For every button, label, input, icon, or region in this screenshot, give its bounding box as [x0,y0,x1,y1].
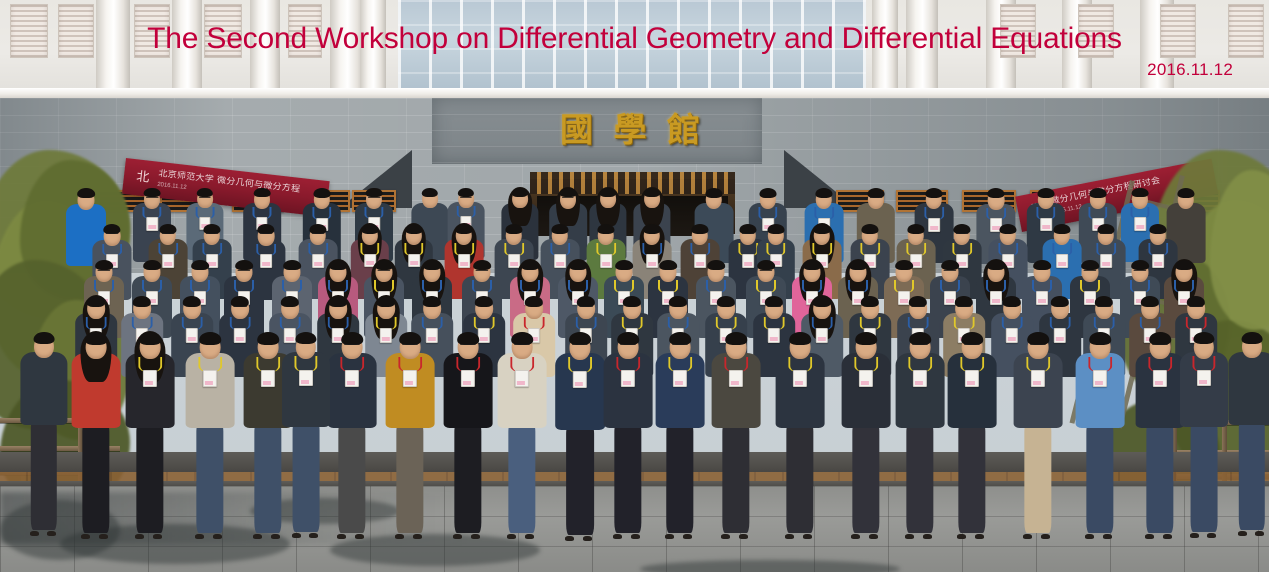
person-glasses [1189,306,1203,310]
person [386,330,435,539]
person-hair-cap [600,188,616,197]
person-glasses [368,197,381,201]
person-hair-cap [1051,296,1069,306]
person-shoe [525,534,534,539]
person-hair-cap [813,224,830,234]
person-hair-cap [644,188,660,197]
person-hair-cap [815,188,832,198]
person [948,330,997,539]
person-shoe [721,534,730,539]
person-badge [673,370,687,387]
person-legs [666,425,693,533]
person-hair-cap [895,260,913,270]
person-hair-cap [329,260,347,270]
person-glasses [259,233,272,237]
person-hair-cap [423,260,441,270]
person-hair-cap [551,224,568,234]
person-shoe [1023,534,1032,539]
person [656,330,705,539]
person-shoe [1085,534,1094,539]
person-glasses [1100,233,1113,237]
person-hair-cap [1090,188,1107,198]
person-hair-cap [1242,332,1263,344]
person-shoe [785,534,794,539]
person [842,330,891,539]
person-hair-cap [1149,224,1166,234]
person [1180,330,1228,538]
person-hair-cap [1033,260,1051,270]
person-hair-cap [909,296,927,306]
person [498,330,547,539]
person-hair-cap [987,260,1005,270]
person-glasses [1030,344,1046,348]
person-shoe [337,534,346,539]
person-badge [1031,370,1045,387]
person-shoe [851,534,860,539]
person-legs [1191,424,1218,532]
person-glasses [206,233,219,237]
person-badge [143,370,157,387]
person-hair-cap [231,296,249,306]
person-badge [203,370,217,387]
person-shoe [153,534,162,539]
person-hair-cap [295,332,316,344]
person-hair-cap [87,296,105,306]
person-hair-cap [455,224,472,234]
person-shoe [99,534,108,539]
person-hair-cap [768,224,785,234]
person-legs [508,425,535,533]
person-shoe [213,534,222,539]
person-shoe [565,536,574,541]
person-hair-cap [861,224,878,234]
hall-sign-char-3: 館 [667,113,700,146]
person-hair-cap [643,224,660,234]
person-hair-cap [615,260,633,270]
person-badge [515,370,529,387]
person-hair-cap [341,332,363,344]
person-hair-cap [1003,296,1021,306]
person-hair-cap [813,296,831,306]
person-legs [786,425,813,533]
person-hair-cap [1177,188,1194,198]
person-shoe [923,534,932,539]
person-shoe [975,534,984,539]
person-hair-cap [765,296,783,306]
person-legs [31,422,57,530]
person-hair-cap [569,332,591,344]
person-torso [20,352,67,425]
person-glasses [460,344,476,348]
person-hair-cap [475,296,493,306]
person-hair-cap [907,224,924,234]
person-hair-cap [955,296,973,306]
person-glasses [956,233,969,237]
person-glasses [105,233,118,237]
person-shoe [1163,534,1172,539]
person-hair-cap [909,332,931,344]
person-legs [293,424,320,532]
person-hair-cap [314,188,331,198]
person-badge [621,370,635,387]
person-glasses [97,270,110,274]
person-badge [1197,370,1211,386]
person-hair-cap [1187,296,1205,306]
group-photo: 國 學 館 北 北京师范大学 微分几何与微分方程 2016.11.12 学 微分… [0,0,1269,572]
person-hair-cap [422,188,438,197]
person-hair-cap [1175,260,1193,270]
person-hair-cap [987,188,1004,198]
person-hair-cap [512,188,528,197]
person-hair-cap [281,296,299,306]
person-badge [461,370,475,387]
person-legs [196,425,223,533]
person-shoe [292,533,301,538]
person-hair-cap [1089,332,1111,344]
person-badge [1093,370,1107,387]
person-hair-cap [577,296,595,306]
person [20,330,67,536]
person-shoe [81,534,90,539]
person-legs [1086,425,1113,533]
person [1014,330,1063,539]
person-legs [254,425,281,533]
person-legs [1024,425,1051,533]
person-hair-cap [143,260,161,270]
person-hair-cap [725,332,747,344]
person [604,330,653,539]
person-glasses [742,233,755,237]
person-badge [403,370,417,387]
person-glasses [964,344,980,348]
person-glasses [237,270,250,274]
person-glasses [572,344,588,348]
person-legs [614,425,641,533]
person-glasses [312,233,325,237]
person-hair-cap [362,224,379,234]
person-glasses [146,197,159,201]
person-glasses [377,270,390,274]
hall-sign-char-1: 國 [560,113,593,146]
person-shoe [355,534,364,539]
person-hair-cap [617,332,639,344]
person-badge [261,370,275,387]
person-hair-cap [406,224,423,234]
person-shoe [803,534,812,539]
person-shoe [1041,534,1050,539]
person-hair-cap [999,224,1016,234]
person-hair-cap [183,296,201,306]
person-hair-cap [133,296,151,306]
person-glasses [460,197,472,201]
person-shoe [1207,533,1216,538]
person-hair-cap [961,332,983,344]
person-glasses [943,270,956,274]
person-hair-cap [199,332,221,344]
person-shoe [30,531,39,536]
person-hair-cap [623,296,641,306]
person-hair-cap [329,296,347,306]
person-legs [722,425,749,533]
person-legs [1146,425,1173,533]
hall-sign-char-2: 學 [614,113,647,146]
page-title: The Second Workshop on Differential Geom… [0,22,1269,56]
person-hair-cap [1053,224,1070,234]
person-hair-cap [399,332,421,344]
person-badge [1153,370,1167,387]
person-shoe [683,534,692,539]
person-hair-cap [669,332,691,344]
person-glasses [620,344,636,348]
person-shoe [613,534,622,539]
person-glasses [402,344,418,348]
person-shoe [583,536,592,541]
person-legs [396,425,423,533]
person-glasses [562,197,574,201]
person-hair-cap [1038,188,1055,198]
person-hair-cap [85,332,107,344]
person-hair-cap [597,224,614,234]
person-badge [345,370,359,387]
person-legs [82,425,109,533]
person-shoe [253,534,262,539]
person-shoe [1238,531,1247,536]
person-hair-cap [191,260,209,270]
person-hair-cap [855,332,877,344]
person-glasses [514,344,530,348]
person-glasses [1097,306,1111,310]
person-hair-cap [789,332,811,344]
person-shoe [905,534,914,539]
person-shoe [47,531,56,536]
person-glasses [672,344,688,348]
person-glasses [1133,270,1146,274]
person-shoe [195,534,204,539]
person [1228,330,1269,536]
person-shoe [413,534,422,539]
person [186,330,235,539]
person-badge [299,370,313,386]
person-legs [136,425,163,533]
person-badge [793,370,807,387]
person-glasses [870,197,883,201]
person-badge [573,371,587,388]
person-hair-cap [257,332,279,344]
person-legs [852,425,879,533]
person-shoe [869,534,878,539]
person-glasses [759,270,772,274]
person-hair-cap [521,260,539,270]
person-shoe [453,534,462,539]
person-hair-cap [659,260,677,270]
person-glasses [957,306,971,310]
person-hair-cap [691,224,708,234]
person-hair-cap [1027,332,1049,344]
person-hair-cap [717,296,735,306]
person-glasses [162,233,175,237]
date-label: 2016.11.12 [1147,60,1233,80]
person [1136,330,1185,539]
person-shoe [395,534,404,539]
person-hair-cap [525,296,543,306]
person [555,330,605,541]
hall-sign: 國 學 館 [560,108,700,150]
person-glasses [344,344,360,348]
person-hair-cap [423,296,441,306]
person-hair-cap [760,188,777,198]
person [72,330,121,539]
person [896,330,945,539]
person-shoe [1190,533,1199,538]
person [444,330,493,539]
person-hair-cap [377,296,395,306]
person-glasses [475,270,488,274]
person [776,330,825,539]
person-hair-cap [925,188,942,198]
person-shoe [471,534,480,539]
person-shoe [957,534,966,539]
person-badge [965,370,979,387]
person-hair-cap [511,332,533,344]
person-shoe [1103,534,1112,539]
person [282,330,330,538]
person-torso [1228,352,1269,425]
person-hair-cap [1141,296,1159,306]
person-legs [338,425,365,533]
person-legs [958,425,985,533]
person-hair-cap [669,296,687,306]
person-shoe [1145,534,1154,539]
person-hair-cap [34,332,55,344]
person-legs [566,427,594,535]
person-hair-cap [849,260,867,270]
person-hair-cap [1149,332,1171,344]
person-shoe [1255,531,1264,536]
person [328,330,377,539]
person-hair-cap [861,296,879,306]
person-hair-cap [803,260,821,270]
person [712,330,761,539]
person-glasses [911,306,925,310]
person-legs [1239,422,1265,530]
person-hair-cap [707,260,725,270]
facade-ledge [0,88,1269,98]
person-hair-cap [705,188,722,198]
person-glasses [1152,344,1168,348]
person-glasses [199,197,211,201]
person-shoe [135,534,144,539]
person-shoe [271,534,280,539]
person [126,330,175,539]
person-hair-cap [139,332,161,344]
person-shoe [665,534,674,539]
person [1076,330,1125,539]
person-badge [729,370,743,387]
person-shoe [739,534,748,539]
puddle [640,560,900,572]
person-glasses [767,306,781,310]
person-hair-cap [283,260,301,270]
person-hair-cap [569,260,587,270]
person-shoe [309,533,318,538]
person-hair-cap [254,188,271,197]
person-badge [859,370,873,387]
person-shoe [507,534,516,539]
person-hair-cap [1095,296,1113,306]
person-hair-cap [1193,332,1214,344]
person-glasses [233,306,247,310]
person-shoe [631,534,640,539]
person-hair-cap [77,188,95,198]
person-badge [913,370,927,387]
person-hair-cap [1132,188,1149,198]
person-hair-cap [505,224,522,234]
person-glasses [912,344,928,348]
person-legs [454,425,481,533]
person-glasses [1083,270,1096,274]
person-hair-cap [457,332,479,344]
person-legs [906,425,933,533]
person-glasses [579,306,593,310]
